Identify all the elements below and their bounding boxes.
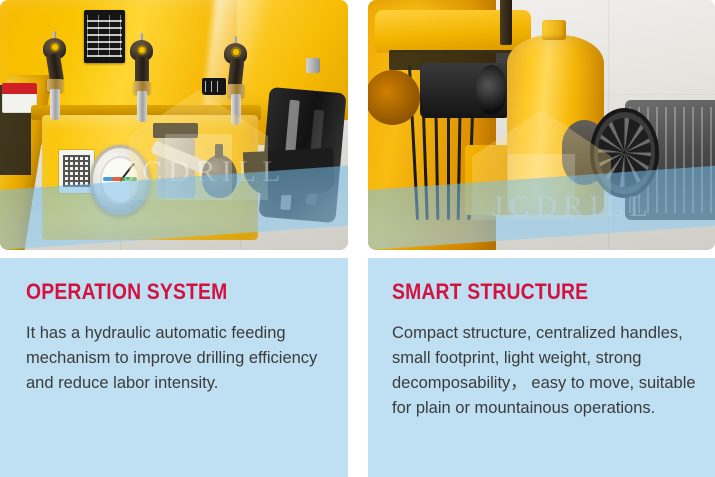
control-lever [42,38,68,121]
product-feature-banner: JCDRILL OPERATION SYSTEM It has a hydrau… [0,0,715,477]
card-title: SMART STRUCTURE [392,281,588,303]
lever-rod [137,91,147,122]
dark-fender [242,148,335,198]
card-body-text: It has a hydraulic automatic feeding mec… [26,321,326,396]
pulley-hub [420,63,510,118]
tank-cap [542,20,566,40]
card-title: OPERATION SYSTEM [26,281,227,303]
control-lever [129,40,155,123]
motor-fan-cover [590,108,659,198]
photo-operation-system: JCDRILL [0,0,348,250]
valve-cap [153,123,198,138]
black-knob [202,155,237,198]
nameplate-icon [84,10,126,63]
info-card-smart-structure: SMART STRUCTURE Compact structure, centr… [368,258,715,477]
feature-panel-operation-system: JCDRILL OPERATION SYSTEM It has a hydrau… [0,0,348,477]
vertical-post [500,0,512,45]
photo-smart-structure: JCDRILL [368,0,715,250]
lever-eye [137,45,147,55]
card-body-text: Compact structure, centralized handles, … [392,321,699,421]
bolt-icon [306,58,320,73]
info-card-operation-system: OPERATION SYSTEM It has a hydraulic auto… [0,258,348,477]
gauge-needle [119,163,135,182]
control-lever [223,43,249,126]
pressure-gauge [90,145,149,215]
feature-panel-smart-structure: JCDRILL SMART STRUCTURE Compact structur… [368,0,715,477]
lever-rod [231,94,241,125]
qr-code-icon [59,150,94,193]
lever-rod [50,89,60,120]
